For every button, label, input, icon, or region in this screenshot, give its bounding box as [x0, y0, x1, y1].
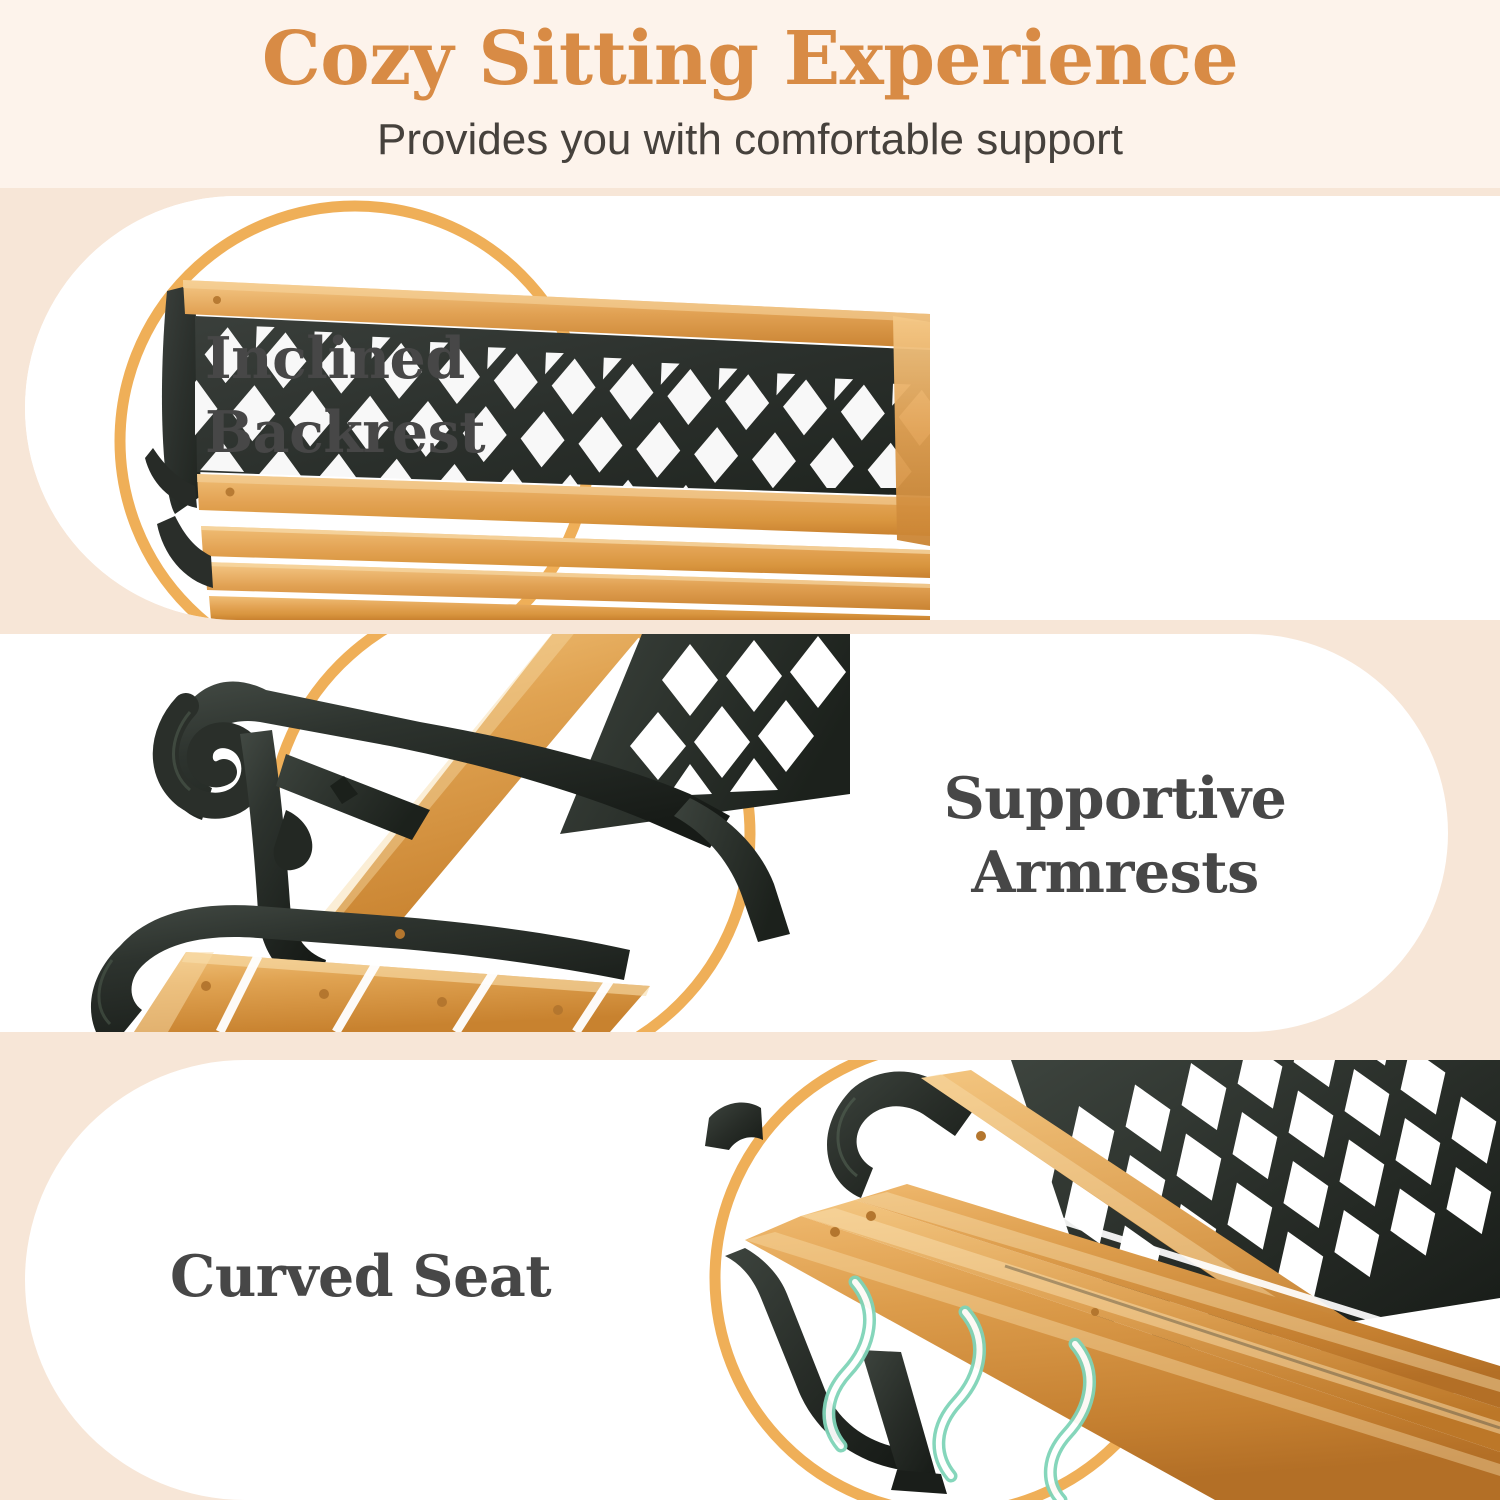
panel-label-curved-seat: Curved Seat [170, 1240, 640, 1314]
page-title: Cozy Sitting Experience [0, 22, 1500, 96]
bench-curved-seat-illustration [675, 1060, 1500, 1500]
feature-panel-inclined-backrest: Inclined Backrest [25, 196, 1500, 620]
photo-bench-curved-seat-closeup [675, 1060, 1500, 1500]
page-subtitle: Provides you with comfortable support [0, 118, 1500, 162]
header-band: Cozy Sitting Experience Provides you wit… [0, 0, 1500, 188]
photo-bench-armrest-closeup [90, 634, 850, 1032]
feature-panel-supportive-armrests: Supportive Armrests [0, 634, 1448, 1032]
bench-armrest-illustration [90, 634, 850, 1032]
feature-panel-curved-seat: Curved Seat [25, 1060, 1500, 1500]
panel-label-supportive-armrests: Supportive Armrests [880, 762, 1350, 910]
right-side-post [893, 316, 930, 546]
panel-label-inclined-backrest: Inclined Backrest [205, 322, 635, 470]
